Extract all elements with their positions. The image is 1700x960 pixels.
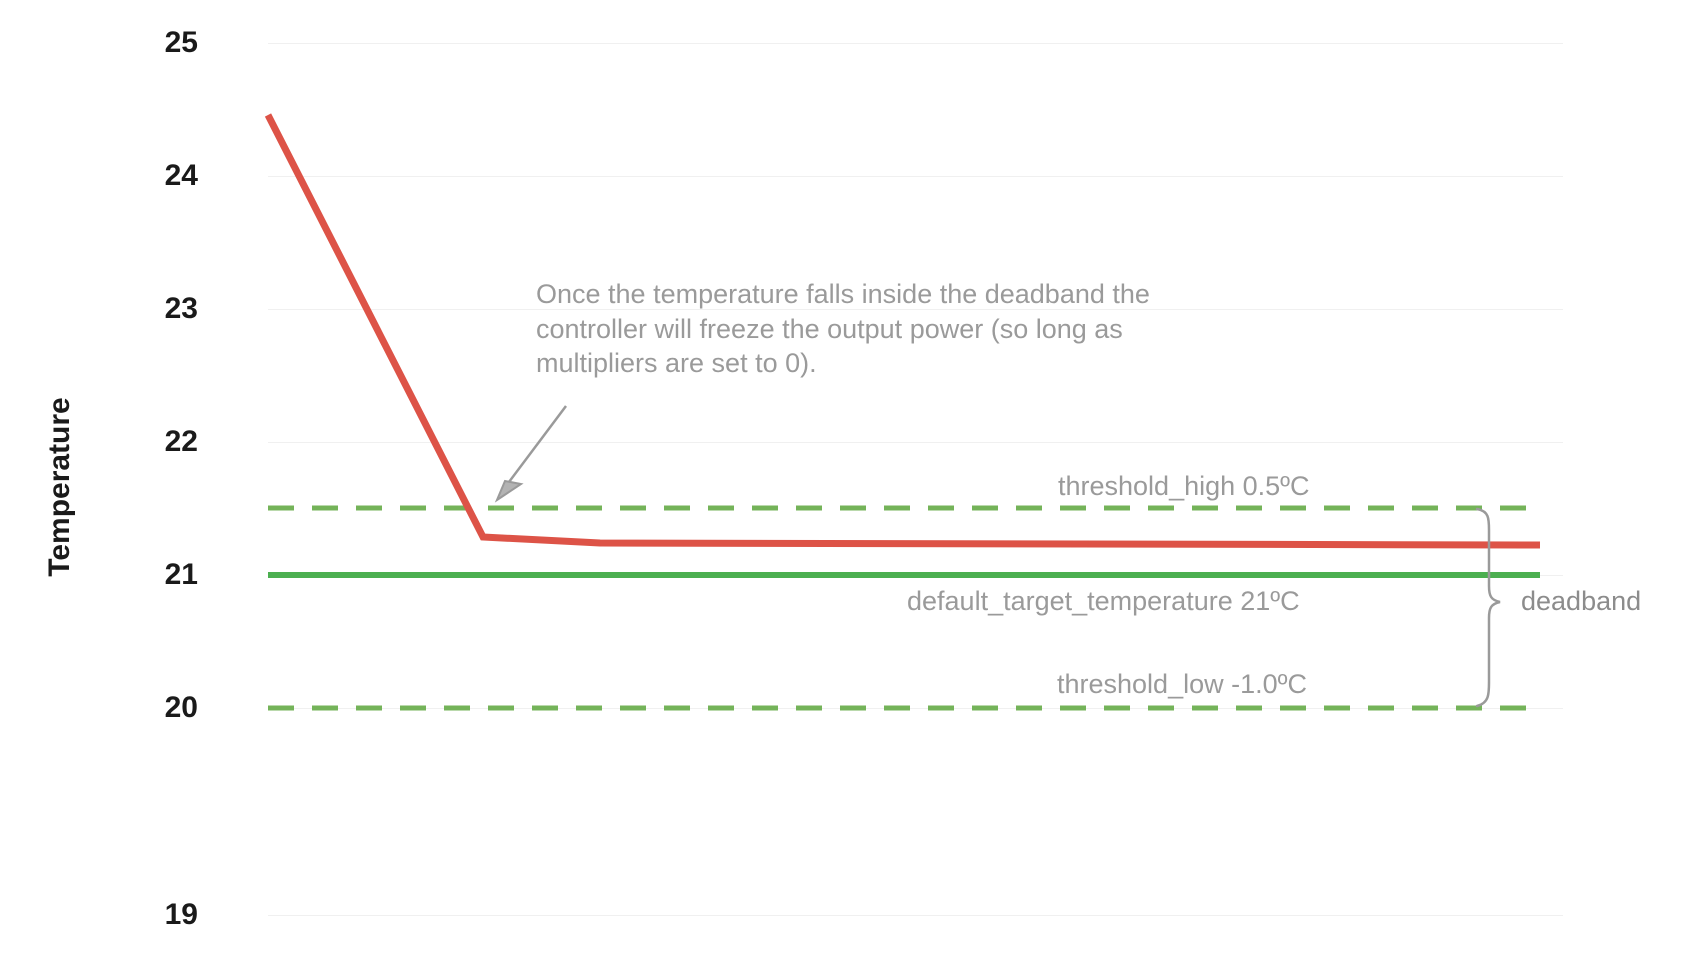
threshold-low-label: threshold_low -1.0ºC (1057, 669, 1307, 700)
deadband-label: deadband (1521, 586, 1641, 617)
target-temperature-label: default_target_temperature 21ºC (907, 586, 1300, 617)
deadband-brace (1477, 509, 1500, 706)
deadband-note: Once the temperature falls inside the de… (536, 277, 1216, 381)
annotation-arrow (497, 406, 566, 500)
threshold-high-label: threshold_high 0.5ºC (1058, 471, 1310, 502)
chart-canvas: 25 24 23 22 21 20 19 Temperature Once th… (0, 0, 1700, 960)
chart-plot-layer (0, 0, 1700, 960)
